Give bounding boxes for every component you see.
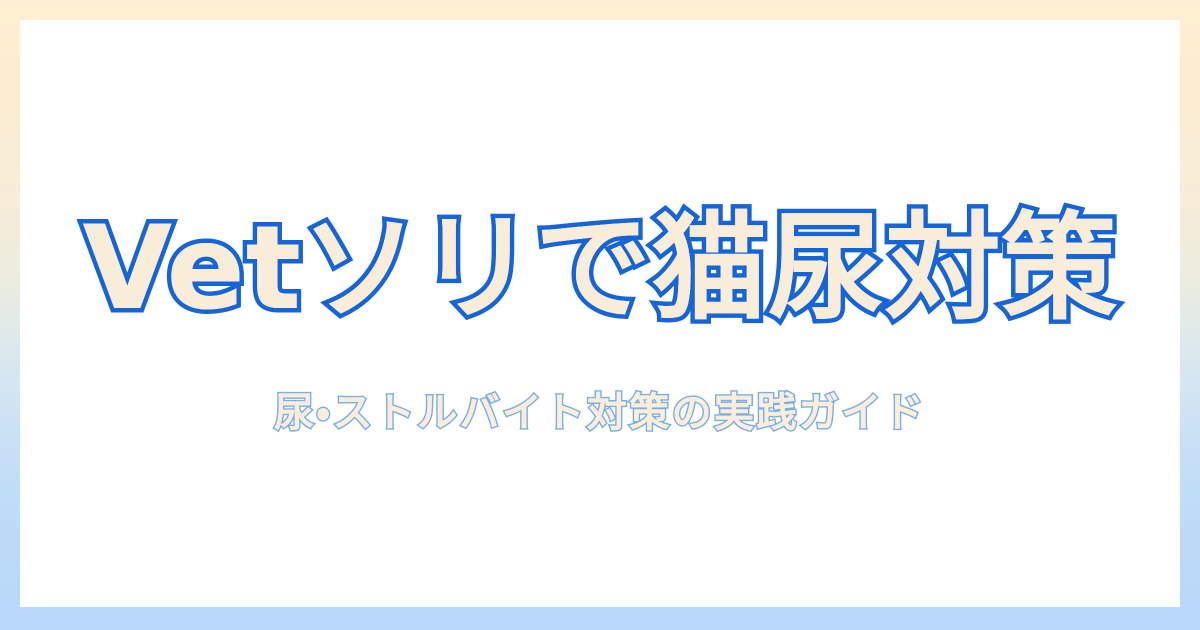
page-title: Vetソリで猫尿対策 Vetソリで猫尿対策: [20, 195, 1180, 345]
og-title-card: Vetソリで猫尿対策 Vetソリで猫尿対策 尿・ストルバイト対策の実践ガイド 尿…: [0, 0, 1200, 630]
page-subtitle-text: 尿・ストルバイト対策の実践ガイド: [20, 387, 1180, 439]
white-content-panel: Vetソリで猫尿対策 Vetソリで猫尿対策 尿・ストルバイト対策の実践ガイド 尿…: [20, 20, 1180, 607]
text-block: Vetソリで猫尿対策 Vetソリで猫尿対策 尿・ストルバイト対策の実践ガイド 尿…: [20, 20, 1180, 607]
page-subtitle: 尿・ストルバイト対策の実践ガイド 尿・ストルバイト対策の実践ガイド: [20, 387, 1180, 443]
page-title-text: Vetソリで猫尿対策: [20, 195, 1180, 343]
